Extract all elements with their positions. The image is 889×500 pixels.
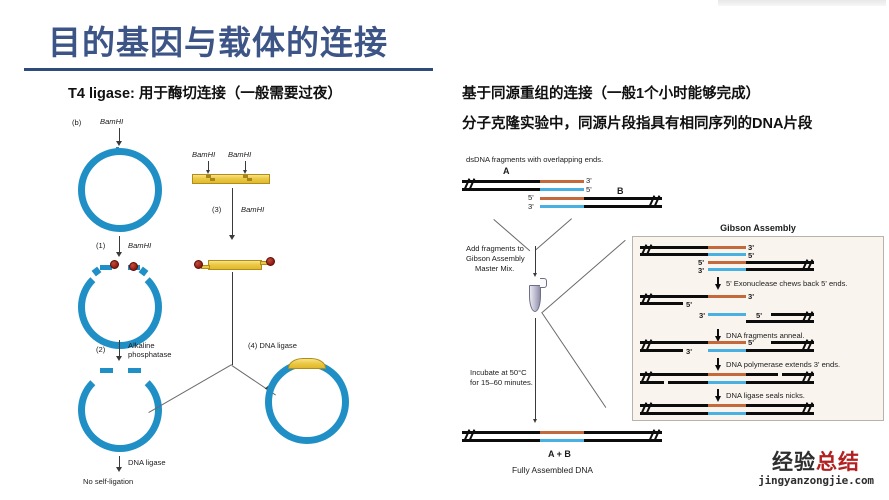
arrow-head-step2 [116,356,122,361]
gp2-label-3b: 3' [699,311,705,320]
fragB-label-3prime: 3' [528,202,534,211]
gp-step1-arrow-head [715,284,721,290]
gp2-b-top-black [771,313,814,316]
gp-step2-text: DNA fragments anneal. [726,331,805,340]
plasmid-dephos-arm-left [100,368,113,373]
label-no-self-ligation: No self-ligation [83,477,133,486]
gp1-a-top-orange [708,246,746,249]
insert-fragment-uncut [192,174,270,184]
callout-line-lower [541,312,606,408]
fragB-bottom-cyan [540,205,584,208]
gp2-label-3: 3' [748,292,754,301]
label-result-ab: A + B [548,449,571,460]
subtitle-left: T4 ligase: 用于酶切连接（一般需要过夜） [68,82,342,103]
plasmid-linearized [78,265,162,349]
label-step2-line2: phosphatase [128,350,172,359]
title-underline [24,68,433,71]
gp5-bottom-cyan [708,412,746,415]
insert-phosphate-left [194,260,203,269]
label-dna-ligase-left: DNA ligase [128,458,166,467]
insert-phosphate-right [266,257,275,266]
panel-label-b: (b) [72,118,81,127]
plasmid-recombinant [265,360,349,444]
microtube-icon [529,285,541,312]
final-bottom-left-black [462,439,540,442]
label-fragment-b: B [617,186,624,197]
gp1-a-bottom-black [640,253,708,256]
subtitle-right-2: 分子克隆实验中，同源片段指具有相同序列的DNA片段 [462,112,812,133]
gp4-bottom-left-black [640,381,664,384]
arrow-stem-to-tube [535,246,536,274]
gp3-label-5: 3' [686,347,692,356]
gp4-top-mid-black [746,373,778,376]
phosphate-dot-right [129,262,138,271]
arrow-stem-step2 [119,340,120,357]
arrow-head-noligation [116,467,122,472]
gp-step3-arrow-head [715,365,721,371]
gp5-bottom-left-black [640,412,708,415]
plasmid-intact [78,148,162,232]
label-step3-enzyme: BamHI [241,205,264,214]
gp3-label-3: 5' [748,338,754,347]
gp1-a-bottom-cyan [708,253,746,256]
recombinant-insert-segment [288,358,326,369]
gp2-label-5b: 5' [756,311,762,320]
insert-site-mark-right-b [247,178,252,181]
converge-line-right [535,218,572,250]
label-add-mix-line2: Gibson Assembly [466,254,525,263]
gp1-b-bottom-cyan [708,268,746,271]
heading-dsdna-fragments: dsDNA fragments with overlapping ends. [466,155,603,164]
plasmid-cut-mark-b [119,150,124,153]
gp4-bottom-right-black [746,381,814,384]
gp-step3-text: DNA polymerase extends 3' ends. [726,360,840,369]
junction-stem [232,272,233,365]
arrow-stem-incubate [535,318,536,420]
gp4-top-orange [708,373,746,376]
label-step2-number: (2) [96,345,105,354]
gp1-b-top-orange [708,261,746,264]
gp-step4-text: DNA ligase seals nicks. [726,391,805,400]
label-frag-bamhi-left: BamHI [192,150,215,159]
fragB-top-orange [540,197,584,200]
microtube-cap-icon [540,278,547,288]
arrow-head-bamhi-top [116,141,122,146]
fragA-bottom-black [462,188,540,191]
gp1-label-5a: 5' [748,251,754,260]
watermark-url: jingyanzongjie.com [748,474,884,487]
label-incubate-line2: for 15–60 minutes. [470,378,533,387]
label-step1-number: (1) [96,241,105,250]
watermark-cn-dark: 经验 [772,451,816,474]
insert-site-mark-left-b [210,178,215,181]
label-step1-enzyme: BamHI [128,241,151,250]
gp4-bottom-mid-black [668,381,708,384]
final-bottom-cyan [540,439,584,442]
phosphate-dot-left [110,260,119,269]
insert-fragment-cut [208,260,262,270]
label-fragment-a: A [503,166,510,177]
top-right-strip [718,0,886,6]
label-add-mix-line3: Master Mix. [475,264,514,273]
junction-branch-left [148,364,232,413]
arrow-head-incubate [533,419,537,423]
plasmid-dephos-arm-right [128,368,141,373]
fragA-bottom-cyan [540,188,584,191]
gp3-bottom-cyan [708,349,746,352]
watermark-chinese: 经验总结 [748,452,884,473]
label-step4: (4) DNA ligase [248,341,297,350]
subtitle-right-1: 基于同源重组的连接（一般1个小时能够完成） [462,82,760,103]
gp2-label-5: 5' [686,300,692,309]
label-fully-assembled-dna: Fully Assembled DNA [512,465,593,476]
page-title: 目的基因与载体的连接 [48,16,388,64]
gp5-bottom-right-black [746,412,814,415]
label-step3-number: (3) [212,205,221,214]
gp1-label-3b: 3' [698,266,704,275]
gp3-top-orange [708,341,746,344]
slide-canvas: 目的基因与载体的连接 T4 ligase: 用于酶切连接（一般需要过夜） 基于同… [0,0,889,500]
fragA-label-5prime: 5' [586,185,592,194]
label-add-mix-line1: Add fragments to [466,244,524,253]
arrow-head-step1 [116,252,122,257]
arrow-stem-step3 [232,188,233,236]
label-incubate-line1: Incubate at 50°C [470,368,527,377]
fragA-top-orange [540,180,584,183]
gp5-top-orange [708,404,746,407]
gp-step1-text: 5' Exonuclease chews back 5' ends. [726,279,848,288]
arrow-stem-step1 [119,236,120,253]
arrow-head-to-tube [533,273,537,277]
gp3-bottom-right-black [746,349,814,352]
gp4-bottom-cyan [708,381,746,384]
final-top-orange [540,431,584,434]
gp2-b-top-cyan [708,313,746,316]
arrow-stem-bamhi-top [119,128,120,142]
watermark-cn-red: 总结 [816,451,860,474]
callout-line-upper [542,240,626,313]
gp-step4-arrow-head [715,396,721,402]
gibson-panel-title: Gibson Assembly [632,223,884,233]
label-frag-bamhi-right: BamHI [228,150,251,159]
gp2-a-top-orange [708,295,746,298]
watermark: 经验总结 jingyanzongjie.com [748,452,884,487]
label-bamhi-top: BamHI [100,117,123,126]
gp3-top-right-black [771,341,814,344]
arrow-head-step3 [229,235,235,240]
